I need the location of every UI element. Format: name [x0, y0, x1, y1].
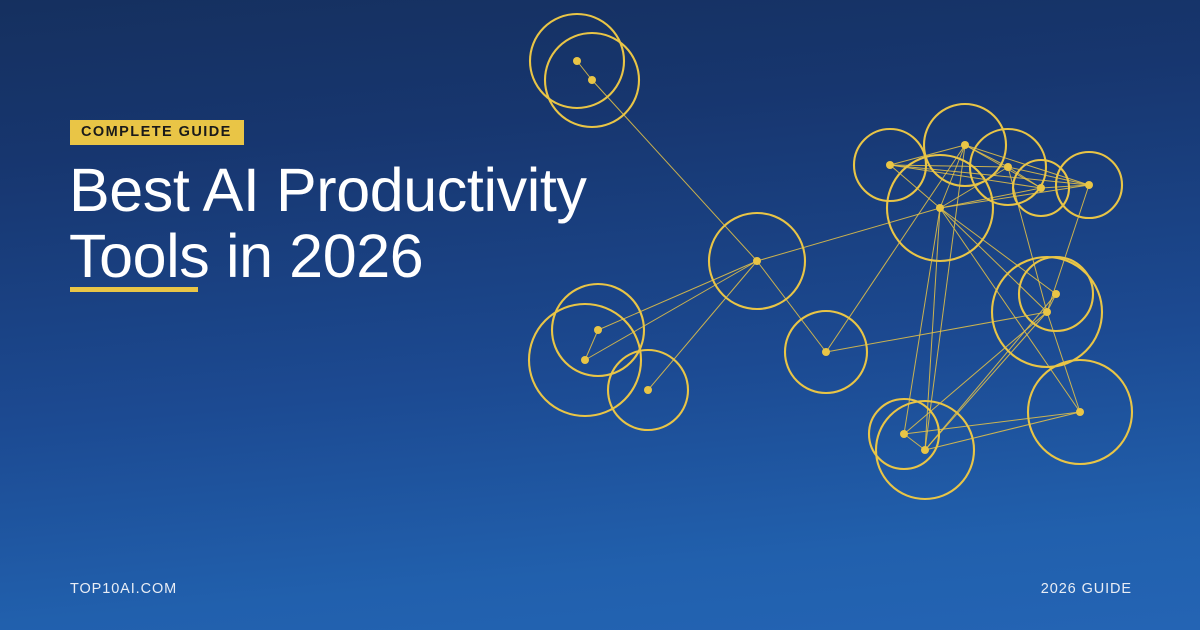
footer-site-label: TOP10AI.COM: [70, 581, 177, 597]
footer-edition-label: 2026 GUIDE: [1041, 581, 1132, 597]
eyebrow-badge: COMPLETE GUIDE: [70, 120, 244, 145]
banner-content: COMPLETE GUIDE Best AI Productivity Tool…: [0, 0, 1200, 630]
title-underline-rule: [70, 287, 198, 292]
page-title-line-2: Tools in 2026: [69, 223, 689, 289]
page-title: Best AI Productivity Tools in 2026: [69, 157, 689, 289]
page-title-line-1: Best AI Productivity: [69, 157, 689, 223]
banner-canvas: COMPLETE GUIDE Best AI Productivity Tool…: [0, 0, 1200, 630]
